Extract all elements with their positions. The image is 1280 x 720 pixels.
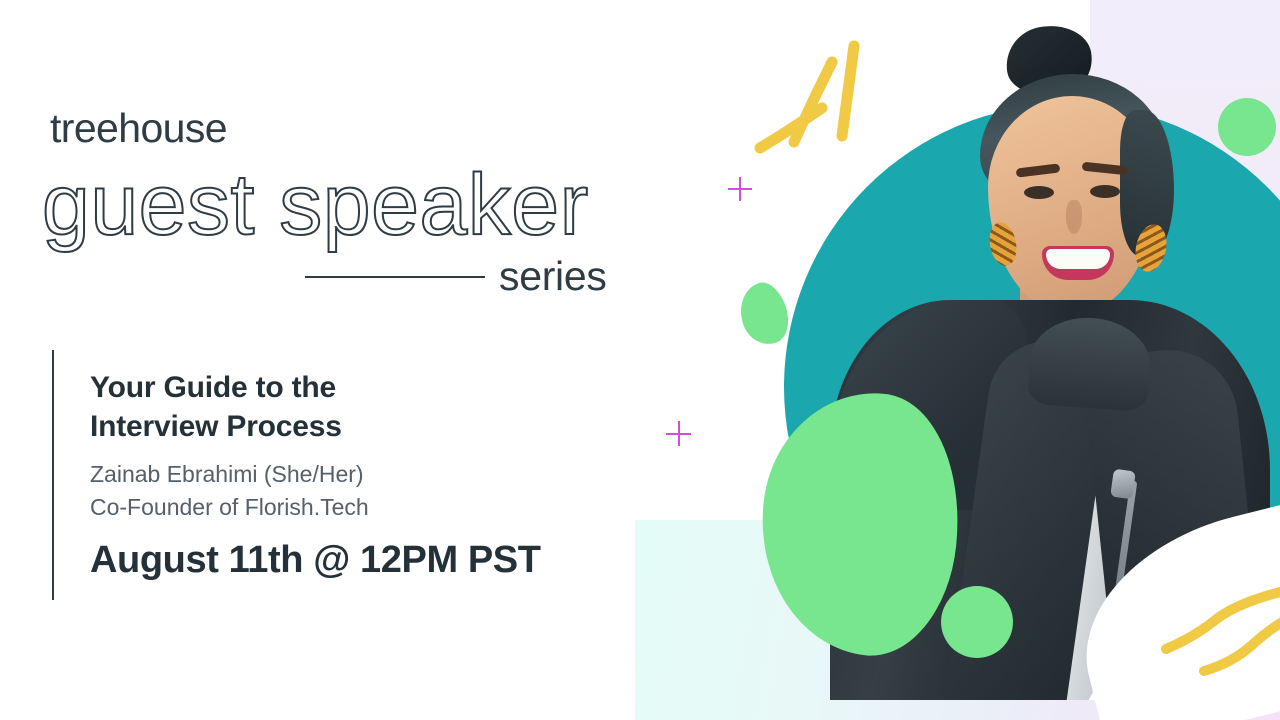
- vertical-accent-rule: [52, 350, 54, 600]
- nose: [1066, 200, 1082, 234]
- eye-left: [1024, 186, 1054, 199]
- teeth: [1046, 249, 1110, 269]
- plus-mark-icon: [728, 177, 752, 201]
- speaker-name: Zainab Ebrahimi (She/Her): [90, 458, 630, 491]
- wavy-lines-icon: [1160, 575, 1280, 685]
- plus-mark-icon: [666, 421, 691, 446]
- green-blob-small: [733, 277, 796, 350]
- eye-right: [1090, 185, 1120, 198]
- promo-slide: treehouse guest speaker series Your Guid…: [0, 0, 1280, 720]
- treehouse-wordmark: treehouse: [50, 108, 227, 149]
- series-row: series: [305, 256, 607, 297]
- green-circle-bottom: [941, 586, 1013, 658]
- sparkle-strokes-icon: [750, 30, 910, 200]
- series-label: series: [499, 256, 607, 297]
- session-info: Your Guide to the Interview Process Zain…: [90, 368, 630, 583]
- zipper-pull-icon: [1110, 469, 1136, 500]
- speaker-role: Co-Founder of Florish.Tech: [90, 491, 630, 524]
- session-datetime: August 11th @ 12PM PST: [90, 539, 630, 583]
- series-divider: [305, 276, 485, 278]
- session-title: Your Guide to the Interview Process: [90, 368, 630, 446]
- page-title: guest speaker: [42, 160, 589, 250]
